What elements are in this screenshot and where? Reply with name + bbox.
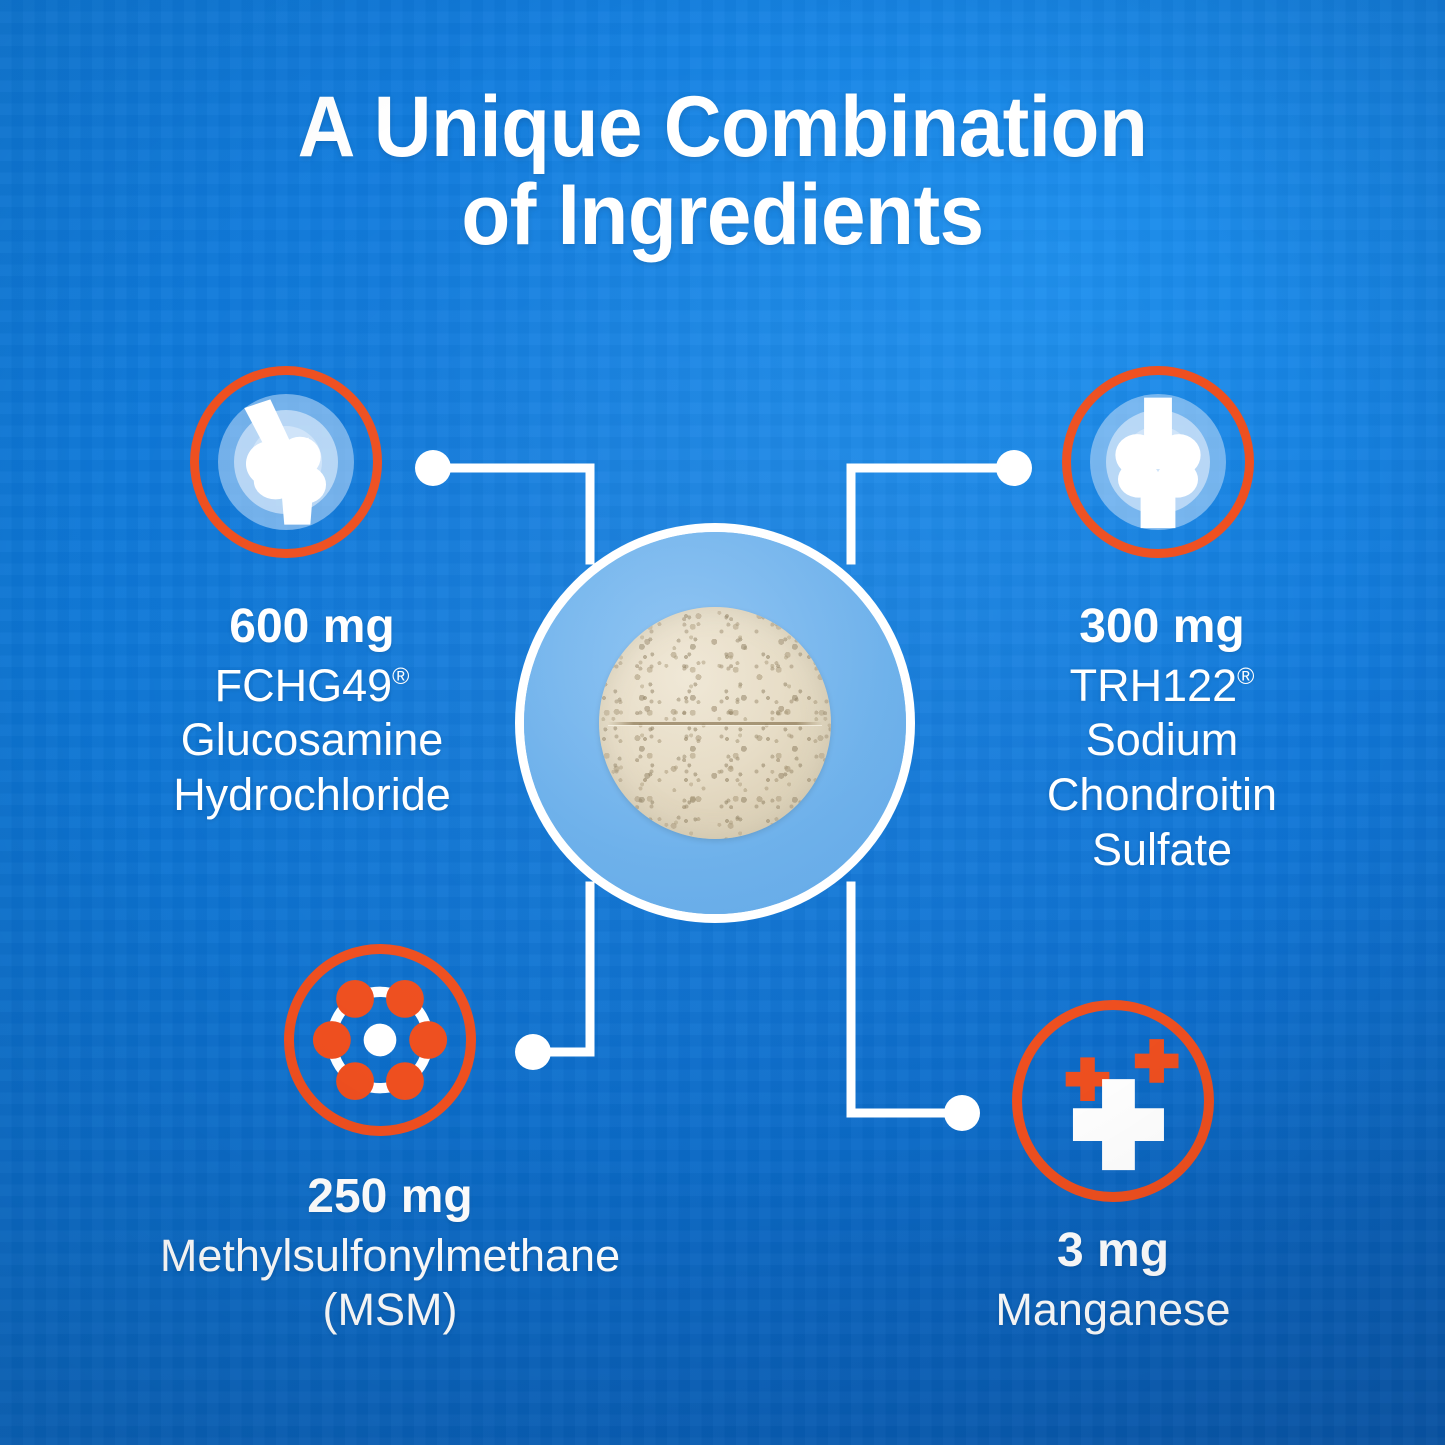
center-tablet-hub <box>524 532 906 914</box>
knee-joint-badge <box>190 366 382 558</box>
connector-dot-top-right <box>996 450 1032 486</box>
name-glucosamine: FCHG49® Glucosamine Hydrochloride <box>62 659 562 824</box>
ingredient-text-glucosamine: 600 mg FCHG49® Glucosamine Hydrochloride <box>62 598 562 823</box>
name-line: Glucosamine <box>62 713 562 768</box>
name-line: Hydrochloride <box>62 768 562 823</box>
ingredient-text-manganese: 3 mg Manganese <box>863 1222 1363 1337</box>
connector-dot-bottom-right <box>944 1095 980 1131</box>
tablet-edge-shading <box>599 607 831 839</box>
molecule-icon <box>294 954 466 1126</box>
product-tablet <box>599 607 831 839</box>
page-title: A Unique Combination of Ingredients <box>0 84 1445 259</box>
bone-joint-icon <box>1071 375 1245 549</box>
name-line: Methylsulfonylmethane <box>60 1229 720 1284</box>
molecule-badge <box>284 944 476 1136</box>
connector-dot-top-left <box>415 450 451 486</box>
connector-dot-bottom-left <box>515 1034 551 1070</box>
name-chondroitin: TRH122® Sodium Chondroitin Sulfate <box>912 659 1412 879</box>
connector-bottom-right <box>851 886 958 1113</box>
ingredient-text-chondroitin: 300 mg TRH122® Sodium Chondroitin Sulfat… <box>912 598 1412 878</box>
name-line: (MSM) <box>60 1283 720 1338</box>
name-line: TRH122® <box>912 659 1412 714</box>
dose-glucosamine: 600 mg <box>62 598 562 657</box>
medical-cross-icon <box>1022 1010 1204 1192</box>
page-title-line-2: of Ingredients <box>51 172 1395 260</box>
dose-chondroitin: 300 mg <box>912 598 1412 657</box>
bone-joint-badge <box>1062 366 1254 558</box>
trademark-symbol: ® <box>1237 663 1254 689</box>
page-title-line-1: A Unique Combination <box>51 84 1395 172</box>
name-line: Sulfate <box>912 823 1412 878</box>
name-line: FCHG49® <box>62 659 562 714</box>
medical-cross-badge <box>1012 1000 1214 1202</box>
small-cross-right <box>1135 1039 1179 1083</box>
name-line: Chondroitin <box>912 768 1412 823</box>
dose-msm: 250 mg <box>60 1168 720 1227</box>
dose-manganese: 3 mg <box>863 1222 1363 1281</box>
ingredient-text-msm: 250 mg Methylsulfonylmethane (MSM) <box>60 1168 720 1338</box>
infographic-canvas: A Unique Combination of Ingredients <box>0 0 1445 1445</box>
trademark-symbol: ® <box>392 663 409 689</box>
name-manganese: Manganese <box>863 1283 1363 1338</box>
knee-joint-icon <box>199 375 373 549</box>
name-line: Sodium <box>912 713 1412 768</box>
name-line: Manganese <box>863 1283 1363 1338</box>
name-msm: Methylsulfonylmethane (MSM) <box>60 1229 720 1339</box>
